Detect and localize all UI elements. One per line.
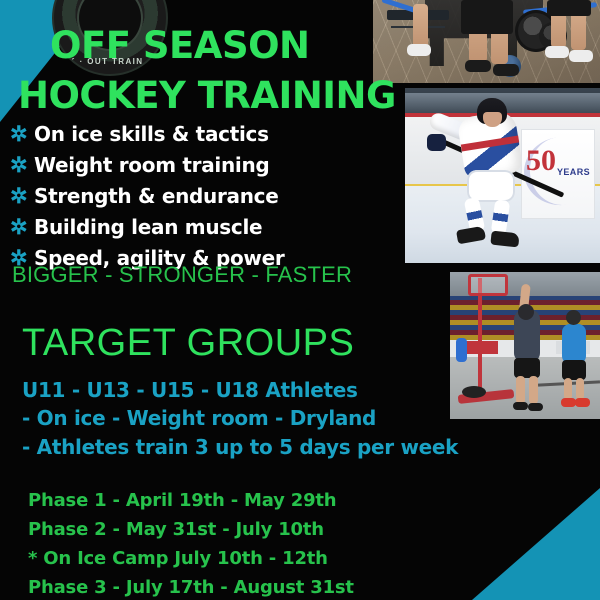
gym-photo-content xyxy=(373,0,600,83)
headline-line-1: OFF SEASON xyxy=(50,26,310,65)
gym-athlete-shoe xyxy=(493,64,519,76)
second-athlete-shoe xyxy=(575,398,590,407)
gym-athlete-shorts xyxy=(461,0,513,34)
background-athlete xyxy=(456,338,467,362)
gym-athlete-shoe xyxy=(569,50,593,62)
gym-athlete-shorts xyxy=(547,0,591,16)
poster-canvas: ORK · OUT TRAIN · OU xyxy=(0,0,600,600)
rink-anniversary-banner: 50 YEARS xyxy=(522,130,594,218)
target-group-line: - On ice - Weight room - Dryland xyxy=(22,404,542,432)
schedule-line: Phase 2 - May 31st - July 10th xyxy=(28,515,508,544)
second-athlete-leg xyxy=(564,378,572,400)
jumping-athlete-shorts xyxy=(514,358,540,378)
second-athlete-shoe xyxy=(561,398,576,407)
tagline: BIGGER - STRONGER - FASTER xyxy=(12,262,352,288)
gym-athlete-shoe xyxy=(407,44,431,56)
player-skate xyxy=(490,231,519,248)
headline-line-2: HOCKEY TRAINING xyxy=(18,76,396,115)
asterisk-bullet-icon: ✲ xyxy=(10,186,27,207)
banner-number: 50 xyxy=(526,146,556,176)
schedule-list: Phase 1 - April 19th - May 29th Phase 2 … xyxy=(28,486,508,600)
asterisk-bullet-icon: ✲ xyxy=(10,155,27,176)
second-athlete-torso xyxy=(562,324,586,364)
asterisk-bullet-icon: ✲ xyxy=(10,124,27,145)
schedule-line: Phase 1 - April 19th - May 29th xyxy=(28,486,508,515)
bullet-item: ✲ Strength & endurance xyxy=(10,184,360,213)
bullet-item: ✲ Weight room training xyxy=(10,153,360,182)
target-group-line: U11 - U13 - U15 - U18 Athletes xyxy=(22,376,542,404)
bullet-item: ✲ Building lean muscle xyxy=(10,215,360,244)
schedule-line: * On Ice Camp July 10th - 12th xyxy=(28,544,508,573)
banner-label: YEARS xyxy=(557,167,590,177)
feature-bullet-list: ✲ On ice skills & tactics ✲ Weight room … xyxy=(10,122,360,277)
second-athlete-leg xyxy=(576,378,584,400)
target-groups-title: TARGET GROUPS xyxy=(22,322,354,365)
bullet-item: ✲ On ice skills & tactics xyxy=(10,122,360,151)
second-athlete-head xyxy=(566,310,581,325)
on-ice-hockey-player-photo: 50 YEARS xyxy=(405,88,600,263)
gym-athlete-shoe xyxy=(545,46,569,58)
gym-athlete-leg xyxy=(413,4,428,48)
target-group-line: - Athletes train 3 up to 5 days per week xyxy=(22,433,542,461)
asterisk-bullet-icon: ✲ xyxy=(10,217,27,238)
bullet-label: Building lean muscle xyxy=(34,215,262,239)
second-athlete-shorts xyxy=(562,360,586,380)
bullet-label: Weight room training xyxy=(34,153,269,177)
bullet-label: Strength & endurance xyxy=(34,184,279,208)
gym-weight-room-photo xyxy=(373,0,600,83)
bullet-label: On ice skills & tactics xyxy=(34,122,269,146)
ice-photo-content: 50 YEARS xyxy=(405,88,600,263)
jumping-athlete-head xyxy=(518,304,534,320)
vertical-jump-target xyxy=(468,274,508,296)
schedule-line: Phase 3 - July 17th - August 31st xyxy=(28,573,508,600)
target-groups-list: U11 - U13 - U15 - U18 Athletes - On ice … xyxy=(22,376,542,461)
gym-athlete-shoe xyxy=(465,60,491,72)
player-glove xyxy=(427,134,446,151)
